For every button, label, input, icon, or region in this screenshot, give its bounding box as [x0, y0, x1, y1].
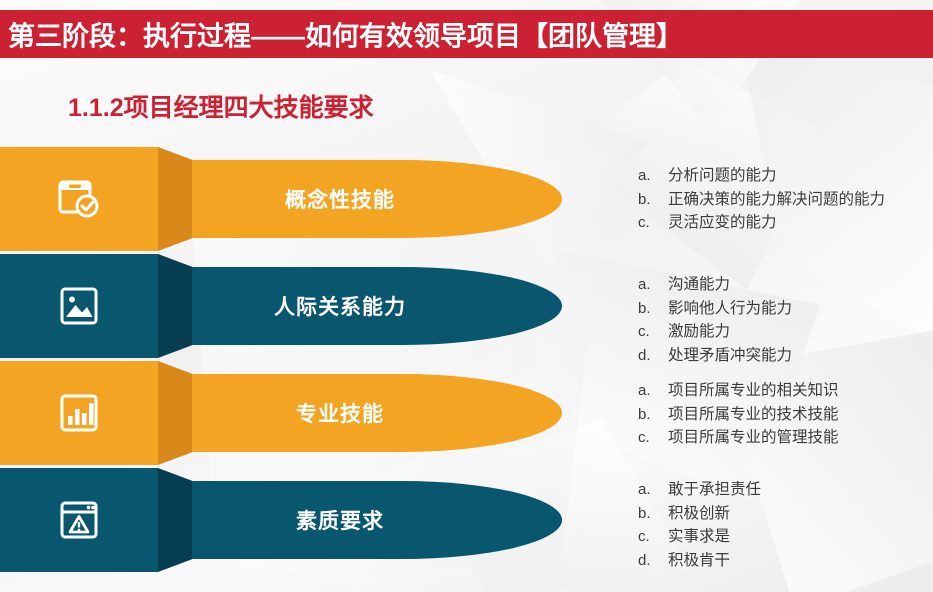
skill-icon-block [0, 468, 158, 572]
skill-banner[interactable]: 素质要求 [192, 481, 562, 559]
list-item: b. 项目所属专业的技术技能 [638, 403, 928, 427]
list-item-marker: b. [638, 502, 668, 526]
list-item-marker: c. [638, 320, 668, 344]
header-bar: 第三阶段：执行过程——如何有效领导项目【团队管理】 [0, 10, 933, 58]
list-item-text: 灵活应变的能力 [668, 211, 928, 235]
list-item-text: 正确决策的能力解决问题的能力 [668, 188, 928, 212]
skill-icon-block [0, 147, 158, 251]
skill-connector [158, 254, 194, 358]
list-item-text: 积极创新 [668, 502, 928, 526]
skill-bullet-list: a. 敢于承担责任 b. 积极创新 c. 实事求是 d. 积极肯干 [638, 478, 928, 572]
list-item-text: 实事求是 [668, 525, 928, 549]
list-item-text: 项目所属专业的技术技能 [668, 403, 928, 427]
skill-label: 人际关系能力 [192, 291, 488, 321]
list-item-text: 积极肯干 [668, 549, 928, 573]
list-item-marker: d. [638, 549, 668, 573]
list-item: c. 激励能力 [638, 320, 928, 344]
skill-banner[interactable]: 概念性技能 [192, 160, 562, 238]
list-item: b. 影响他人行为能力 [638, 297, 928, 321]
list-item-marker: d. [638, 344, 668, 368]
list-item: d. 积极肯干 [638, 549, 928, 573]
skill-icon-block [0, 254, 158, 358]
skill-connector [158, 361, 194, 465]
list-item-marker: b. [638, 297, 668, 321]
clipboard-clock-icon [57, 177, 101, 221]
slide-canvas: 第三阶段：执行过程——如何有效领导项目【团队管理】 1.1.2项目经理四大技能要… [0, 0, 933, 592]
skill-bullet-list: a. 项目所属专业的相关知识 b. 项目所属专业的技术技能 c. 项目所属专业的… [638, 379, 928, 450]
skill-label: 概念性技能 [192, 184, 488, 214]
skill-label: 素质要求 [192, 505, 488, 535]
window-warning-icon [57, 498, 101, 542]
list-item-marker: a. [638, 273, 668, 297]
list-item-marker: a. [638, 379, 668, 403]
list-item-marker: a. [638, 164, 668, 188]
list-item-marker: b. [638, 403, 668, 427]
section-subtitle: 1.1.2项目经理四大技能要求 [68, 88, 374, 124]
skill-connector [158, 468, 194, 572]
skill-label: 专业技能 [192, 398, 488, 428]
list-item: c. 灵活应变的能力 [638, 211, 928, 235]
skill-banner[interactable]: 专业技能 [192, 374, 562, 452]
bar-chart-icon [57, 391, 101, 435]
page-title: 第三阶段：执行过程——如何有效领导项目【团队管理】 [8, 15, 683, 54]
list-item-marker: c. [638, 525, 668, 549]
list-item: a. 分析问题的能力 [638, 164, 928, 188]
list-item-text: 项目所属专业的管理技能 [668, 426, 928, 450]
skill-connector [158, 147, 194, 251]
list-item: a. 项目所属专业的相关知识 [638, 379, 928, 403]
list-item-marker: c. [638, 211, 668, 235]
list-item: b. 正确决策的能力解决问题的能力 [638, 188, 928, 212]
list-item: a. 敢于承担责任 [638, 478, 928, 502]
list-item: b. 积极创新 [638, 502, 928, 526]
list-item-marker: a. [638, 478, 668, 502]
list-item: c. 项目所属专业的管理技能 [638, 426, 928, 450]
list-item: c. 实事求是 [638, 525, 928, 549]
list-item-text: 处理矛盾冲突能力 [668, 344, 928, 368]
list-item-marker: c. [638, 426, 668, 450]
list-item-text: 影响他人行为能力 [668, 297, 928, 321]
list-item: a. 沟通能力 [638, 273, 928, 297]
list-item-text: 激励能力 [668, 320, 928, 344]
skill-bullet-list: a. 沟通能力 b. 影响他人行为能力 c. 激励能力 d. 处理矛盾冲突能力 [638, 273, 928, 367]
list-item-text: 沟通能力 [668, 273, 928, 297]
image-picture-icon [57, 284, 101, 328]
skill-icon-block [0, 361, 158, 465]
skill-banner[interactable]: 人际关系能力 [192, 267, 562, 345]
list-item-text: 敢于承担责任 [668, 478, 928, 502]
list-item: d. 处理矛盾冲突能力 [638, 344, 928, 368]
list-item-marker: b. [638, 188, 668, 212]
list-item-text: 项目所属专业的相关知识 [668, 379, 928, 403]
skill-bullet-list: a. 分析问题的能力 b. 正确决策的能力解决问题的能力 c. 灵活应变的能力 [638, 164, 928, 235]
list-item-text: 分析问题的能力 [668, 164, 928, 188]
